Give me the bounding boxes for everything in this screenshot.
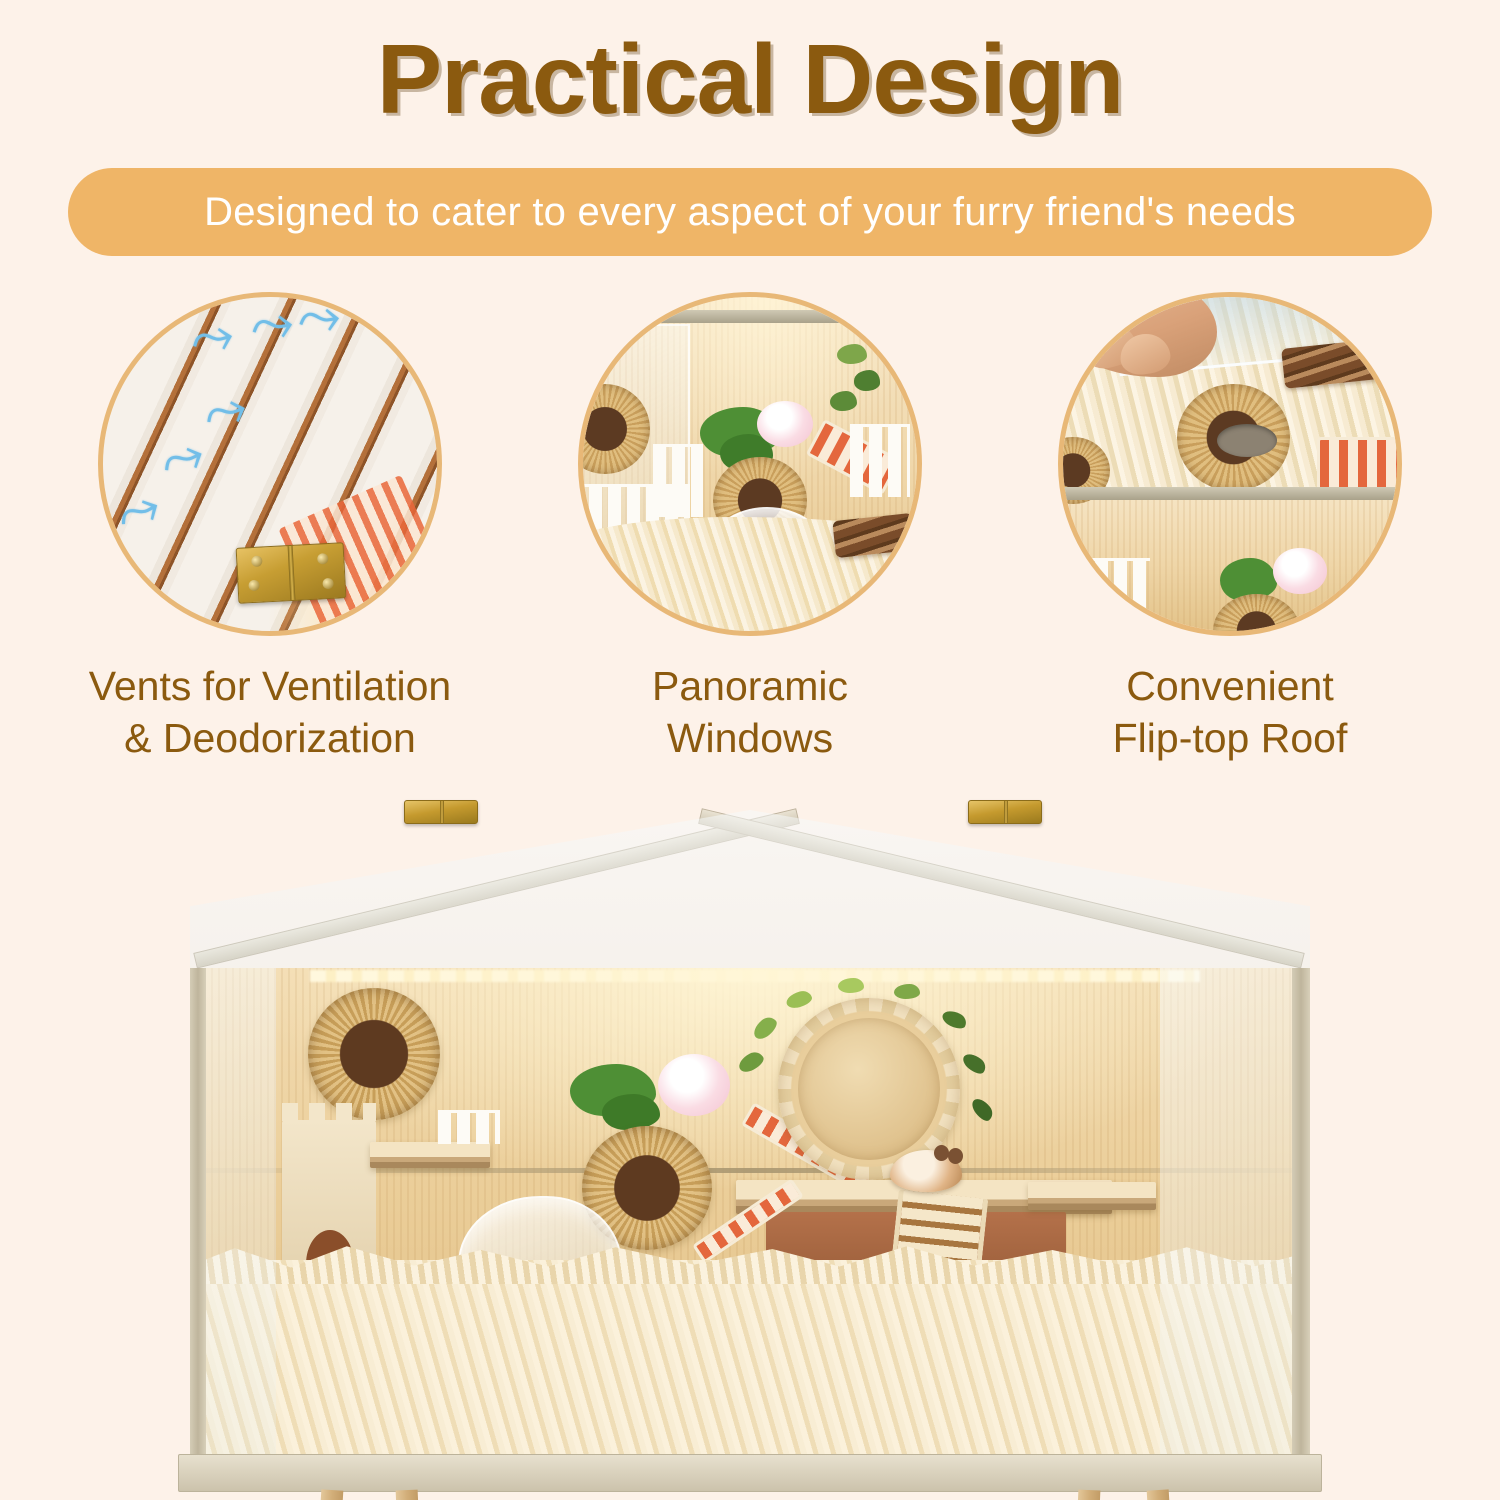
airflow-arrow-icon: ⤳ xyxy=(246,297,298,354)
feature-image-roof xyxy=(1058,292,1402,636)
wooden-platform xyxy=(1028,1182,1156,1210)
feature-image-vents: ⤳ ⤳ ⤳ ⤳ ⤳ ⤳ xyxy=(98,292,442,636)
acrylic-side-panel xyxy=(1160,968,1310,1460)
roof-rail xyxy=(583,310,917,323)
striped-ramp xyxy=(1317,437,1397,490)
picket-fence xyxy=(438,1110,500,1144)
cage-interior xyxy=(190,968,1310,1460)
feature-item-roof: Convenient Flip-top Roof xyxy=(980,292,1480,765)
screw-icon xyxy=(248,580,260,592)
page-title: Practical Design xyxy=(0,28,1500,132)
feature-caption-line1: Convenient xyxy=(980,660,1480,712)
feature-caption-line1: Panoramic xyxy=(500,660,1000,712)
subtitle-banner: Designed to cater to every aspect of you… xyxy=(68,168,1432,256)
feature-caption-line2: Windows xyxy=(500,712,1000,764)
feature-caption-windows: Panoramic Windows xyxy=(500,660,1000,765)
infographic-page: Practical Design Designed to cater to ev… xyxy=(0,0,1500,1500)
green-leaf xyxy=(602,1094,660,1130)
feature-caption-line1: Vents for Ventilation xyxy=(20,660,520,712)
feature-item-windows: Panoramic Windows xyxy=(500,292,1000,765)
hamster xyxy=(890,1150,962,1192)
brass-hinge xyxy=(235,542,346,604)
stand-rail xyxy=(178,1454,1322,1492)
brass-hinge xyxy=(404,800,478,824)
picket-fence xyxy=(653,444,703,517)
screw-icon xyxy=(317,553,329,565)
product-photo xyxy=(0,790,1500,1500)
feature-caption-line2: & Deodorization xyxy=(20,712,520,764)
picket-fence xyxy=(1076,558,1149,631)
vine-garland xyxy=(718,976,1018,1206)
feature-list: ⤳ ⤳ ⤳ ⤳ ⤳ ⤳ Vents for Ventilation & xyxy=(0,292,1500,792)
vine-leaf xyxy=(830,391,857,411)
wood-shaving-bedding xyxy=(190,1260,1310,1460)
corner-post xyxy=(1292,968,1310,1460)
brass-hinge xyxy=(968,800,1042,824)
vine-leaf xyxy=(838,978,864,993)
feature-image-windows xyxy=(578,292,922,636)
vent-photo: ⤳ ⤳ ⤳ ⤳ ⤳ ⤳ xyxy=(103,297,437,631)
pink-flower xyxy=(1273,548,1326,595)
roof-photo xyxy=(1063,297,1397,631)
feature-caption-roof: Convenient Flip-top Roof xyxy=(980,660,1480,765)
woven-nest xyxy=(308,988,440,1120)
feature-item-vents: ⤳ ⤳ ⤳ ⤳ ⤳ ⤳ Vents for Ventilation & xyxy=(20,292,520,765)
vine-leaf xyxy=(894,984,920,999)
screw-icon xyxy=(322,578,334,590)
corner-post xyxy=(190,968,206,1460)
hamster-ear xyxy=(934,1145,949,1161)
hamster-ear xyxy=(948,1148,963,1164)
subtitle-text: Designed to cater to every aspect of you… xyxy=(204,190,1296,235)
vine-leaf xyxy=(854,370,881,390)
feature-caption-vents: Vents for Ventilation & Deodorization xyxy=(20,660,520,765)
nest-opening xyxy=(1217,424,1277,457)
feature-caption-line2: Flip-top Roof xyxy=(980,712,1480,764)
vine-leaf xyxy=(837,344,867,364)
shelf-divider xyxy=(1063,487,1397,500)
airflow-arrow-icon: ⤳ xyxy=(293,297,343,347)
wooden-platform xyxy=(370,1142,490,1168)
picket-rail xyxy=(850,424,910,497)
screw-icon xyxy=(251,555,263,567)
windows-photo xyxy=(583,297,917,631)
stand-leg xyxy=(1074,1490,1101,1500)
